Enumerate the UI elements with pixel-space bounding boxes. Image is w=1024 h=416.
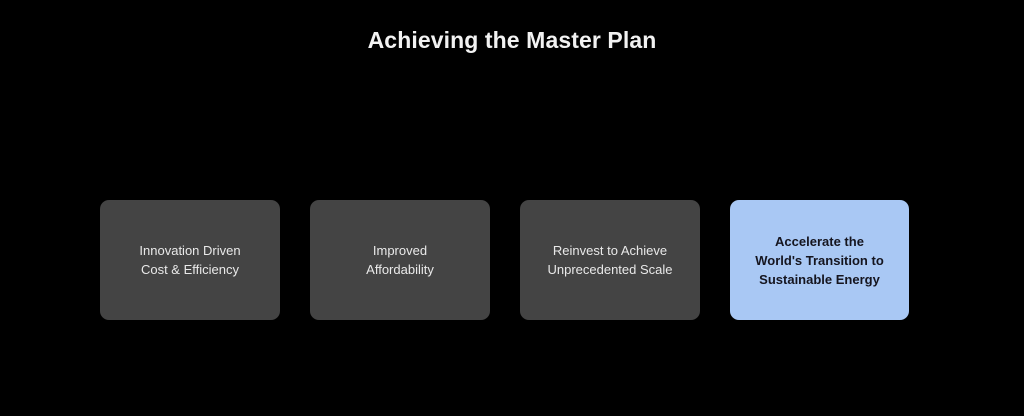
flow-step-accelerate-sustainable-energy[interactable]: Accelerate the World's Transition to Sus… [730, 200, 909, 320]
flow-step-label: Innovation Driven Cost & Efficiency [139, 241, 240, 279]
slide-canvas: Achieving the Master Plan Innovation Dri… [0, 0, 1024, 416]
page-title: Achieving the Master Plan [0, 26, 1024, 54]
flow-step-innovation-driven-cost-efficiency[interactable]: Innovation Driven Cost & Efficiency [100, 200, 280, 320]
flow-step-label: Improved Affordability [366, 241, 434, 279]
master-plan-flow: Innovation Driven Cost & Efficiency Impr… [100, 200, 910, 320]
flow-step-label: Accelerate the World's Transition to Sus… [755, 232, 884, 289]
flow-step-improved-affordability[interactable]: Improved Affordability [310, 200, 490, 320]
flow-step-label: Reinvest to Achieve Unprecedented Scale [547, 241, 672, 279]
flow-step-reinvest-unprecedented-scale[interactable]: Reinvest to Achieve Unprecedented Scale [520, 200, 700, 320]
